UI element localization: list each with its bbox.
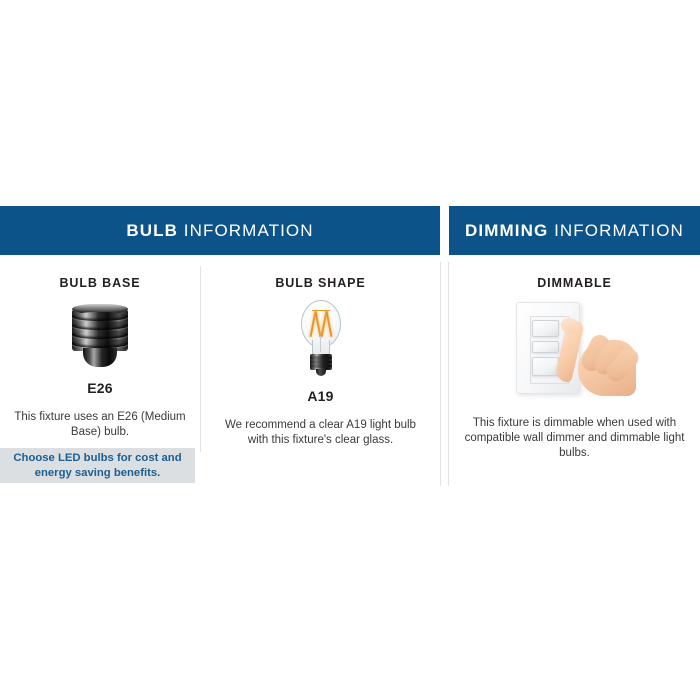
e26-screw-base-icon bbox=[68, 304, 132, 368]
dimmable-title: DIMMABLE bbox=[449, 266, 700, 290]
dimming-information-header-text: DIMMING INFORMATION bbox=[465, 221, 684, 241]
e26-thread-1 bbox=[72, 312, 128, 321]
e26-thread-4 bbox=[72, 339, 128, 348]
e26-thread-2 bbox=[72, 321, 128, 330]
bulb-shape-description: We recommend a clear A19 light bulb with… bbox=[201, 418, 440, 448]
led-tip-box: Choose LED bulbs for cost and energy sav… bbox=[0, 448, 195, 483]
bulb-base-title: BULB BASE bbox=[0, 266, 200, 290]
dimming-information-header: DIMMING INFORMATION bbox=[449, 206, 700, 255]
dimmable-description: This fixture is dimmable when used with … bbox=[449, 416, 700, 461]
dimmer-paddle-top bbox=[532, 320, 559, 337]
column-bulb-shape: BULB SHAPE A19 We recommend a clear A19 … bbox=[201, 266, 440, 448]
bulb-information-header-text: BULB INFORMATION bbox=[126, 221, 313, 241]
bulb-and-dimming-info-page: BULB INFORMATION DIMMING INFORMATION BUL… bbox=[0, 0, 700, 700]
a19-base-ring-2 bbox=[310, 360, 332, 364]
dimming-information-header-light: INFORMATION bbox=[554, 221, 684, 240]
bulb-base-code: E26 bbox=[0, 380, 200, 396]
hand-illustration bbox=[558, 318, 636, 398]
divider-panels-left bbox=[440, 262, 441, 486]
e26-thread-3 bbox=[72, 330, 128, 339]
dimmer-paddle-bottom bbox=[532, 357, 559, 376]
column-dimmable: DIMMABLE This fixture is dimmable when u… bbox=[449, 266, 700, 461]
a19-clear-filament-bulb-icon bbox=[293, 300, 349, 378]
bulb-shape-title: BULB SHAPE bbox=[201, 266, 440, 290]
bulb-information-header-bold: BULB bbox=[126, 221, 178, 240]
bulb-base-description: This fixture uses an E26 (Medium Base) b… bbox=[0, 410, 200, 440]
a19-stem bbox=[320, 336, 321, 352]
wall-dimmer-switch-with-hand-icon bbox=[512, 300, 637, 400]
dimmer-paddle-middle bbox=[532, 341, 559, 353]
bulb-information-header: BULB INFORMATION bbox=[0, 206, 440, 255]
column-bulb-base: BULB BASE E26 This fixture uses an E26 (… bbox=[0, 266, 200, 440]
a19-base-tip bbox=[316, 369, 326, 376]
a19-base-ring-3 bbox=[310, 364, 332, 368]
dimming-information-header-bold: DIMMING bbox=[465, 221, 548, 240]
led-tip-text: Choose LED bulbs for cost and energy sav… bbox=[0, 451, 195, 480]
bulb-information-header-light: INFORMATION bbox=[184, 221, 314, 240]
bulb-shape-code: A19 bbox=[201, 388, 440, 404]
a19-base-ring-1 bbox=[310, 356, 332, 360]
e26-tip bbox=[83, 348, 117, 367]
